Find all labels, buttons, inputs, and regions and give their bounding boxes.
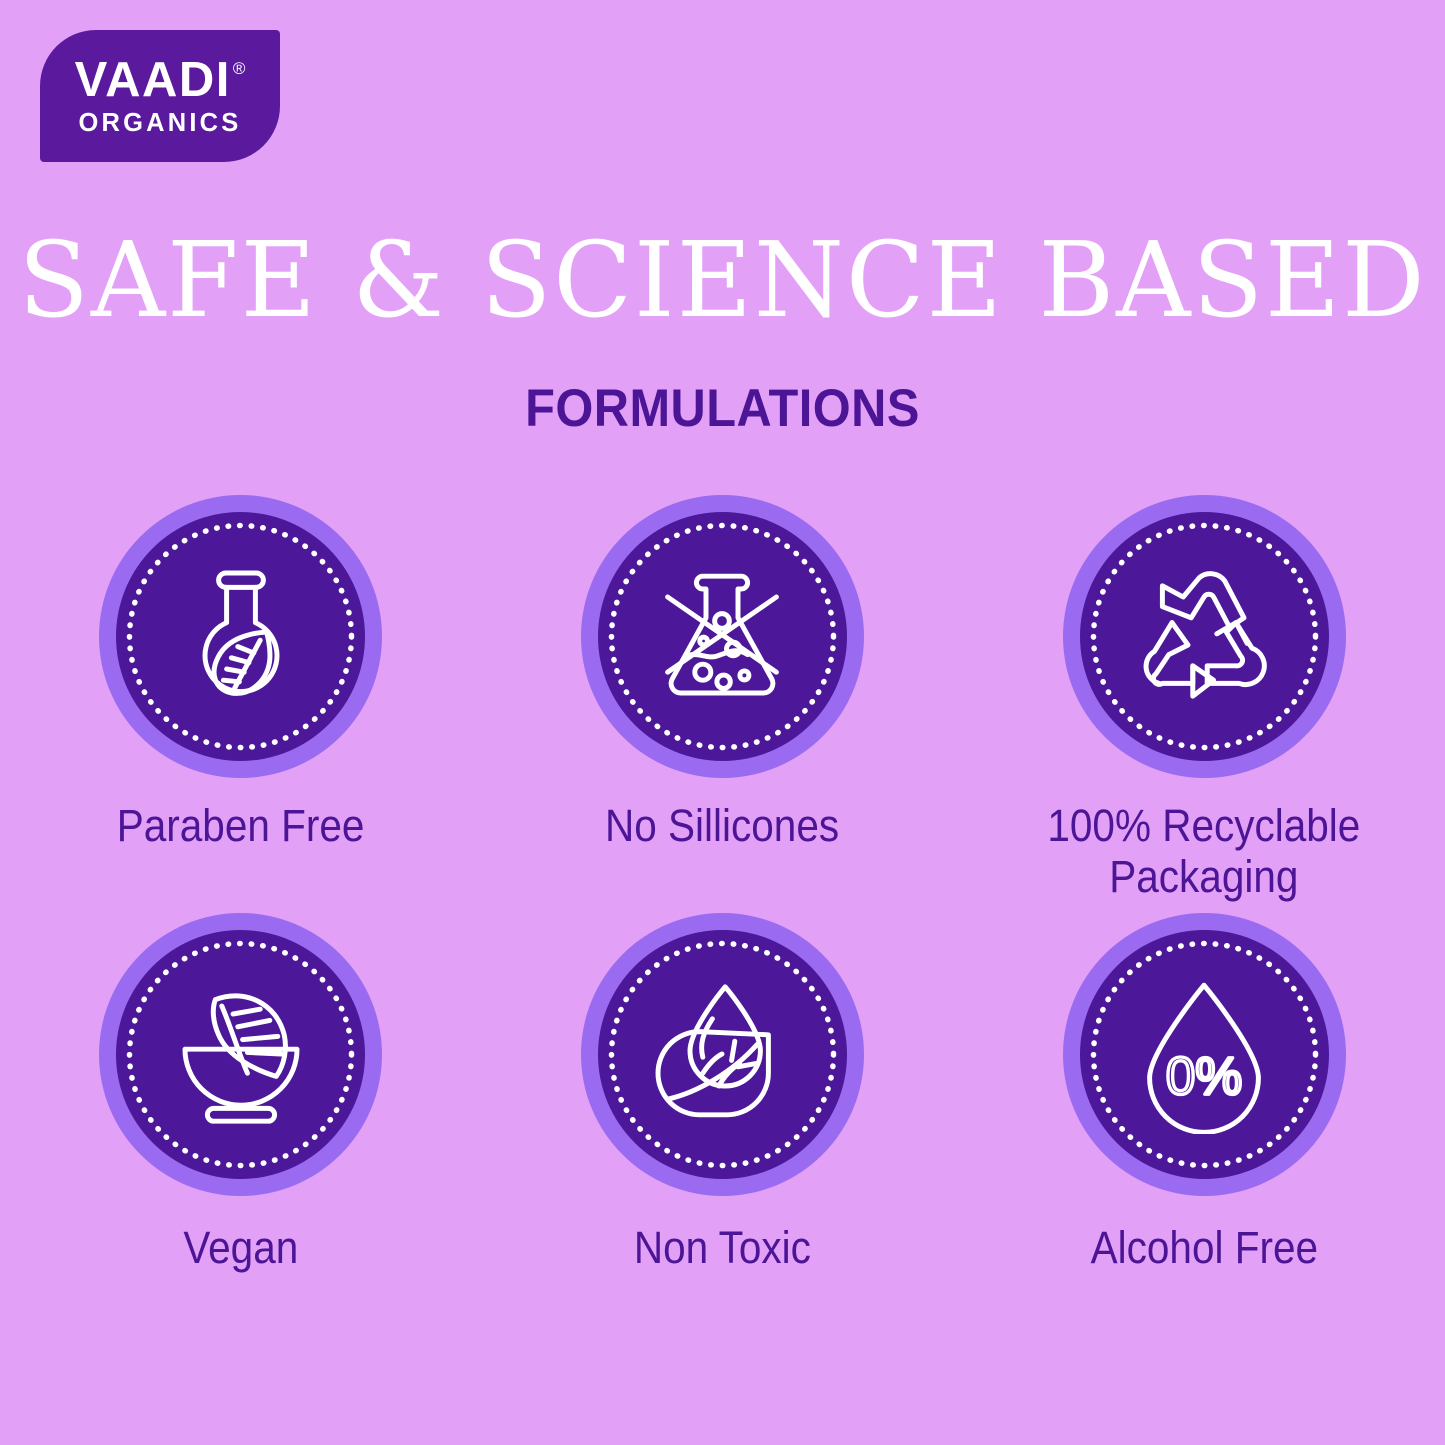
feature-label-line-1: 100% Recyclable (1048, 800, 1361, 851)
zero-percent-label: 0% (1166, 1047, 1242, 1106)
badge-ring (99, 913, 382, 1196)
brand-wordmark: VAADI ® (75, 58, 246, 103)
mortar-bowl-leaf-icon (161, 974, 321, 1134)
badge-disc (598, 930, 847, 1179)
feature-item-alcohol-free: 0% Alcohol Free (963, 913, 1445, 1273)
feature-item-no-sillicones: No Sillicones (482, 495, 964, 903)
feature-label: Non Toxic (634, 1222, 811, 1273)
recycle-arrows-icon (1124, 557, 1284, 717)
badge-ring (581, 495, 864, 778)
feature-item-vegan: Vegan (0, 913, 482, 1273)
page-subtitle: FORMULATIONS (58, 378, 1387, 439)
feature-label: 100% Recyclable Packaging (1048, 800, 1361, 903)
brand-logo-badge: VAADI ® ORGANICS (40, 30, 280, 162)
badge-disc: 0% (1080, 930, 1329, 1179)
page-title: SAFE & SCIENCE BASED (7, 228, 1438, 332)
badge-ring (1063, 495, 1346, 778)
feature-item-non-toxic: Non Toxic (482, 913, 964, 1273)
badge-disc (116, 512, 365, 761)
badge-ring: 0% (1063, 913, 1346, 1196)
feature-item-paraben-free: Paraben Free (0, 495, 482, 903)
feature-label: Alcohol Free (1090, 1222, 1317, 1273)
feature-label: Paraben Free (117, 800, 365, 851)
feature-label: No Sillicones (605, 800, 839, 851)
badge-disc (116, 930, 365, 1179)
features-grid: Paraben Free (0, 495, 1445, 1273)
badge-ring (581, 913, 864, 1196)
brand-name: VAADI (75, 58, 231, 103)
feature-label-line-2: Packaging (1110, 851, 1299, 902)
badge-disc (1080, 512, 1329, 761)
badge-ring (99, 495, 382, 778)
flask-round-leaf-icon (161, 557, 321, 717)
droplet-leaf-icon (642, 974, 802, 1134)
erlenmeyer-flask-crossed-out-icon (642, 557, 802, 717)
feature-item-recyclable-packaging: 100% Recyclable Packaging (963, 495, 1445, 903)
registered-trademark-icon: ® (233, 60, 246, 77)
droplet-zero-percent-icon: 0% (1124, 974, 1284, 1134)
badge-disc (598, 512, 847, 761)
feature-label: Vegan (183, 1222, 298, 1273)
brand-tagline: ORGANICS (78, 109, 241, 138)
